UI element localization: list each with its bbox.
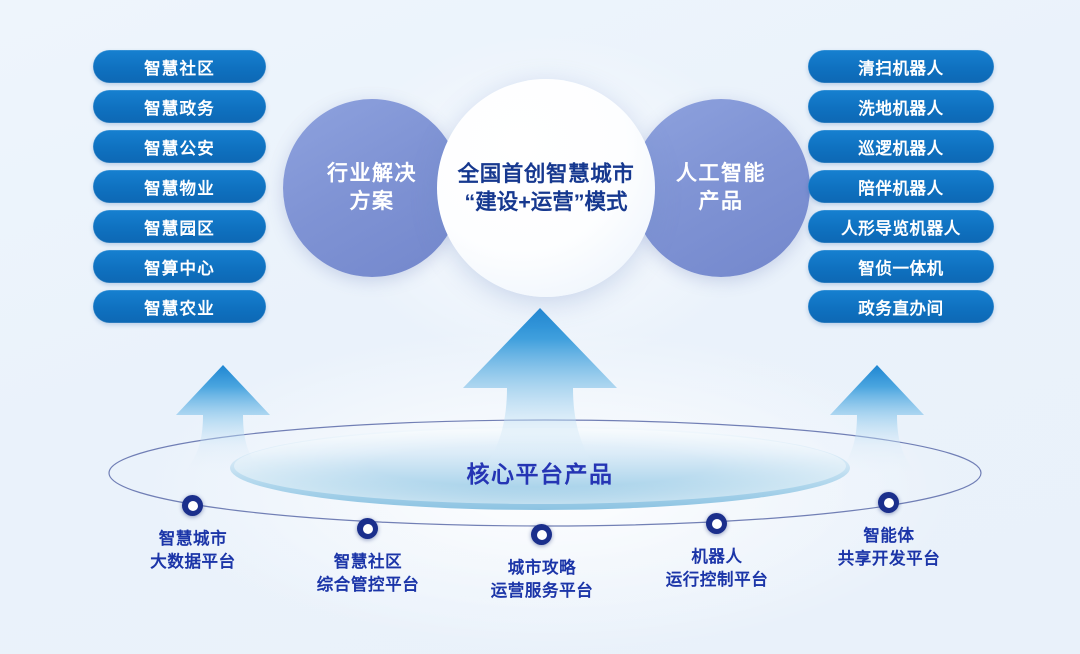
list-item[interactable]: 智慧园区 [93, 210, 266, 243]
node-marker[interactable] [357, 518, 378, 539]
infographic-canvas: 行业解决 方案 人工智能 产品 全国首创智慧城市 “建设+运营”模式 智慧社区 … [0, 0, 1080, 654]
circle-ai-products[interactable]: 人工智能 产品 [632, 99, 810, 277]
list-item[interactable]: 智慧农业 [93, 290, 266, 323]
platform-label-line1: 机器人 [666, 546, 769, 569]
list-item[interactable]: 智慧社区 [93, 50, 266, 83]
platform-label: 智能体 共享开发平台 [838, 525, 941, 572]
list-item[interactable]: 人形导览机器人 [808, 210, 994, 243]
circle-industry-solutions[interactable]: 行业解决 方案 [283, 99, 461, 277]
platform-label-line2: 大数据平台 [150, 551, 236, 574]
platform-label-line2: 运营服务平台 [491, 580, 594, 603]
circle-left-line2: 方案 [327, 188, 417, 216]
arrow-left-icon [171, 363, 275, 475]
platform-label-line1: 智慧社区 [317, 551, 420, 574]
node-marker[interactable] [706, 513, 727, 534]
circle-center-line2: “建设+运营”模式 [458, 188, 635, 216]
circle-smart-city-model[interactable]: 全国首创智慧城市 “建设+运营”模式 [437, 79, 655, 297]
list-item[interactable]: 智慧公安 [93, 130, 266, 163]
node-marker[interactable] [182, 495, 203, 516]
list-item[interactable]: 陪伴机器人 [808, 170, 994, 203]
platform-label: 机器人 运行控制平台 [666, 546, 769, 593]
list-item[interactable]: 智慧政务 [93, 90, 266, 123]
node-marker[interactable] [878, 492, 899, 513]
platform-label: 智慧城市 大数据平台 [150, 528, 236, 575]
platform-label: 城市攻略 运营服务平台 [491, 557, 594, 604]
platform-label-line2: 综合管控平台 [317, 574, 420, 597]
arrow-center-icon [455, 306, 625, 481]
arrow-right-icon [825, 363, 929, 475]
industry-solutions-list: 智慧社区 智慧政务 智慧公安 智慧物业 智慧园区 智算中心 智慧农业 [93, 50, 266, 323]
platform-label-line1: 城市攻略 [491, 557, 594, 580]
list-item[interactable]: 智算中心 [93, 250, 266, 283]
circle-right-line1: 人工智能 [676, 160, 766, 188]
list-item[interactable]: 清扫机器人 [808, 50, 994, 83]
list-item[interactable]: 智慧物业 [93, 170, 266, 203]
platform-label: 智慧社区 综合管控平台 [317, 551, 420, 598]
platform-label-line2: 运行控制平台 [666, 569, 769, 592]
circle-center-line1: 全国首创智慧城市 [458, 160, 635, 188]
circle-left-line1: 行业解决 [327, 160, 417, 188]
list-item[interactable]: 智侦一体机 [808, 250, 994, 283]
node-marker[interactable] [531, 524, 552, 545]
ai-products-list: 清扫机器人 洗地机器人 巡逻机器人 陪伴机器人 人形导览机器人 智侦一体机 政务… [808, 50, 994, 323]
platform-label-line1: 智能体 [838, 525, 941, 548]
platform-label-line1: 智慧城市 [150, 528, 236, 551]
circle-right-line2: 产品 [676, 188, 766, 216]
list-item[interactable]: 政务直办间 [808, 290, 994, 323]
list-item[interactable]: 巡逻机器人 [808, 130, 994, 163]
platform-label-line2: 共享开发平台 [838, 548, 941, 571]
list-item[interactable]: 洗地机器人 [808, 90, 994, 123]
